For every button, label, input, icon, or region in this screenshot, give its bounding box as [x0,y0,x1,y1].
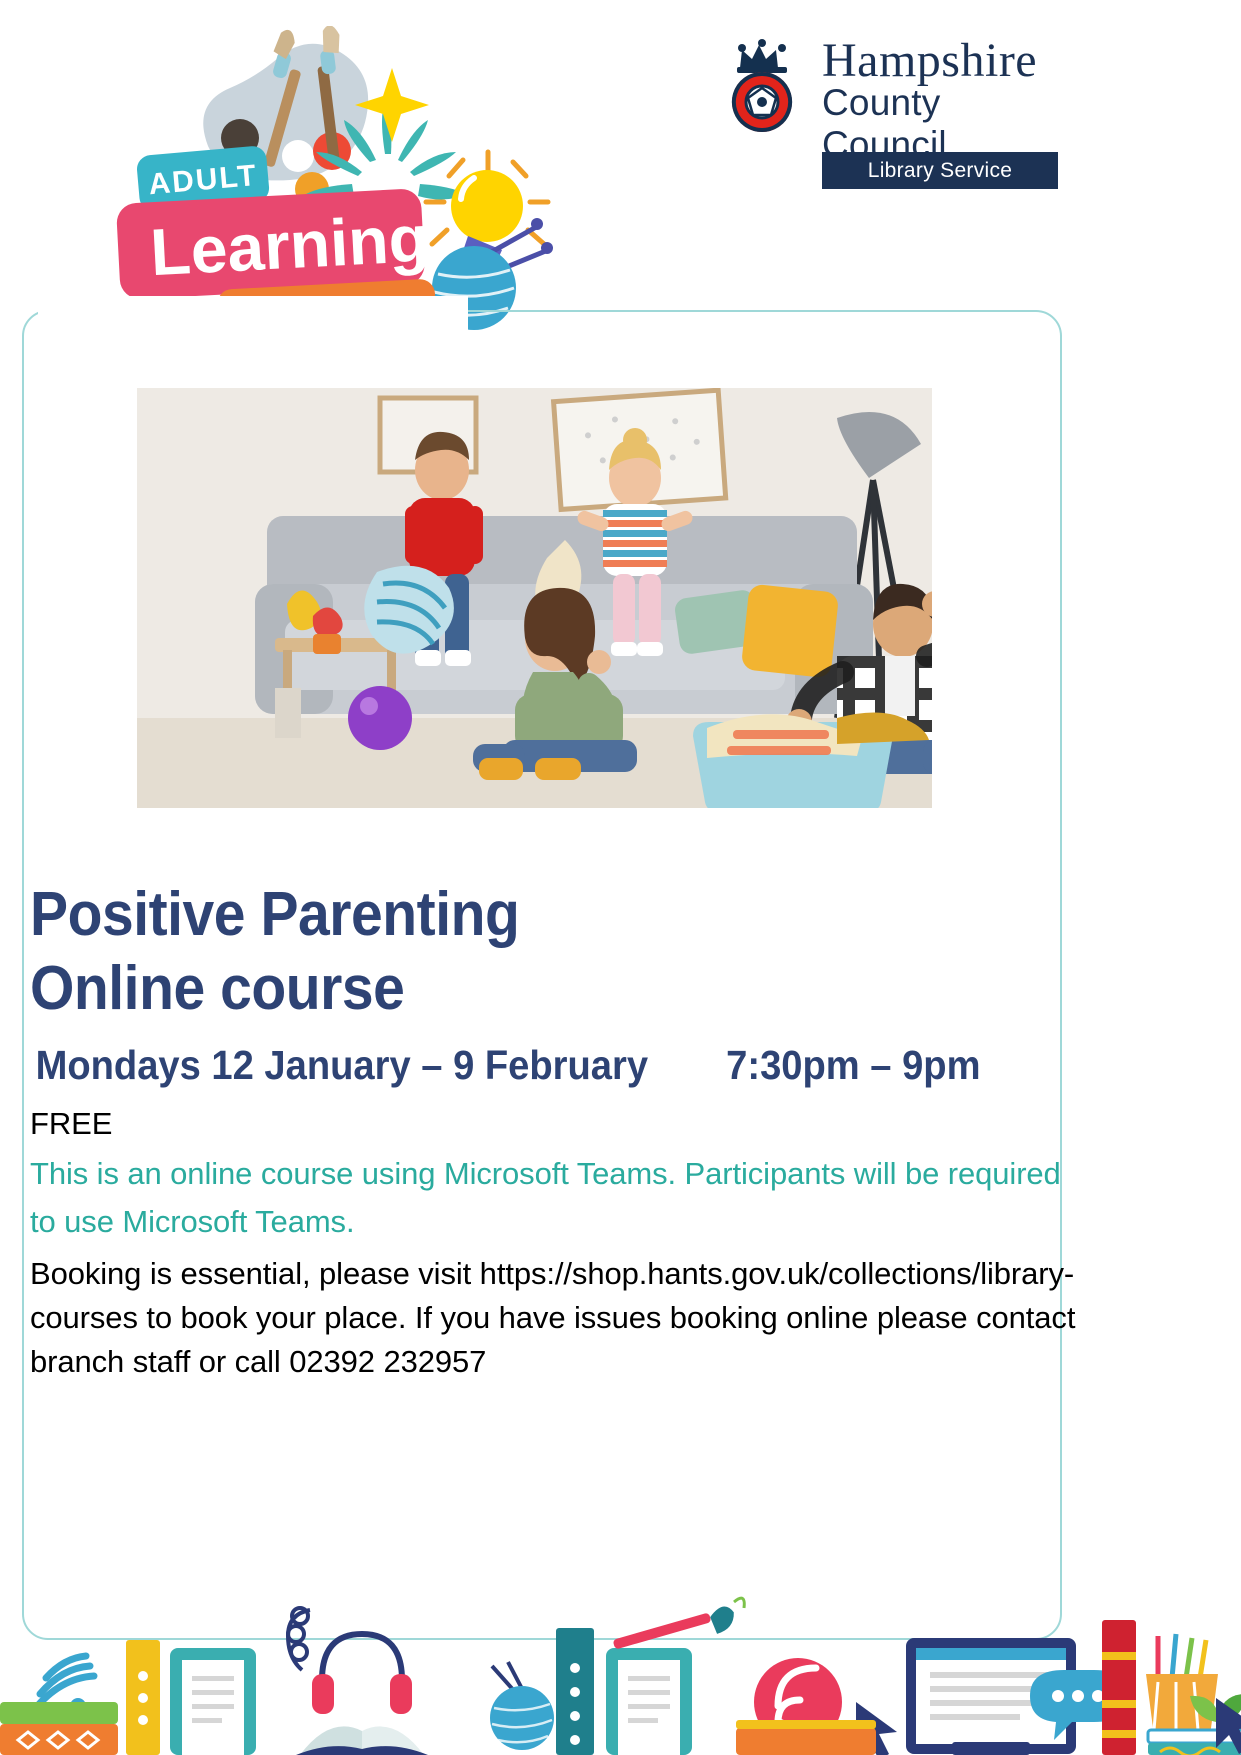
hcc-name-line1: Hampshire [822,36,1037,86]
tudor-rose-crown-icon [726,38,812,148]
course-schedule: Mondays 12 January – 9 February 7:30pm –… [30,1040,1016,1090]
tablet-document-icon [170,1648,256,1755]
microsoft-teams-note: This is an online course using Microsoft… [30,1150,1085,1246]
course-details: Positive Parenting Online course Mondays… [30,878,1090,1384]
books-stack-icon [0,1702,118,1755]
course-dates: Mondays 12 January – 9 February [30,1040,648,1090]
badge-learning-label: Learning [148,201,430,289]
hampshire-county-council-logo: Hampshire County Council Library Service [726,34,1066,194]
red-book-icon [1102,1620,1136,1755]
paintbrush-icon [613,1598,745,1649]
course-time: 7:30pm – 9pm [648,1040,980,1090]
headphones-icon [288,1608,412,1714]
page-title-line1: Positive Parenting [30,878,1005,952]
teal-binder-icon [556,1628,594,1755]
frame-notch [38,296,468,356]
yellow-book-icon [126,1640,160,1755]
knitting-yarn-icon [490,1662,554,1750]
library-service-badge: Library Service [822,152,1058,189]
course-photo [137,388,932,808]
page-title-line2: Online course [30,952,1005,1026]
orange-books-icon [736,1720,876,1755]
footer-illustration-strip [0,1490,1241,1755]
booking-instructions: Booking is essential, please visit https… [30,1252,1090,1384]
e-reader-icon [606,1648,692,1755]
open-book-icon [296,1726,428,1755]
course-price: FREE [30,1102,1090,1146]
pencil-pot-icon [1146,1634,1218,1736]
